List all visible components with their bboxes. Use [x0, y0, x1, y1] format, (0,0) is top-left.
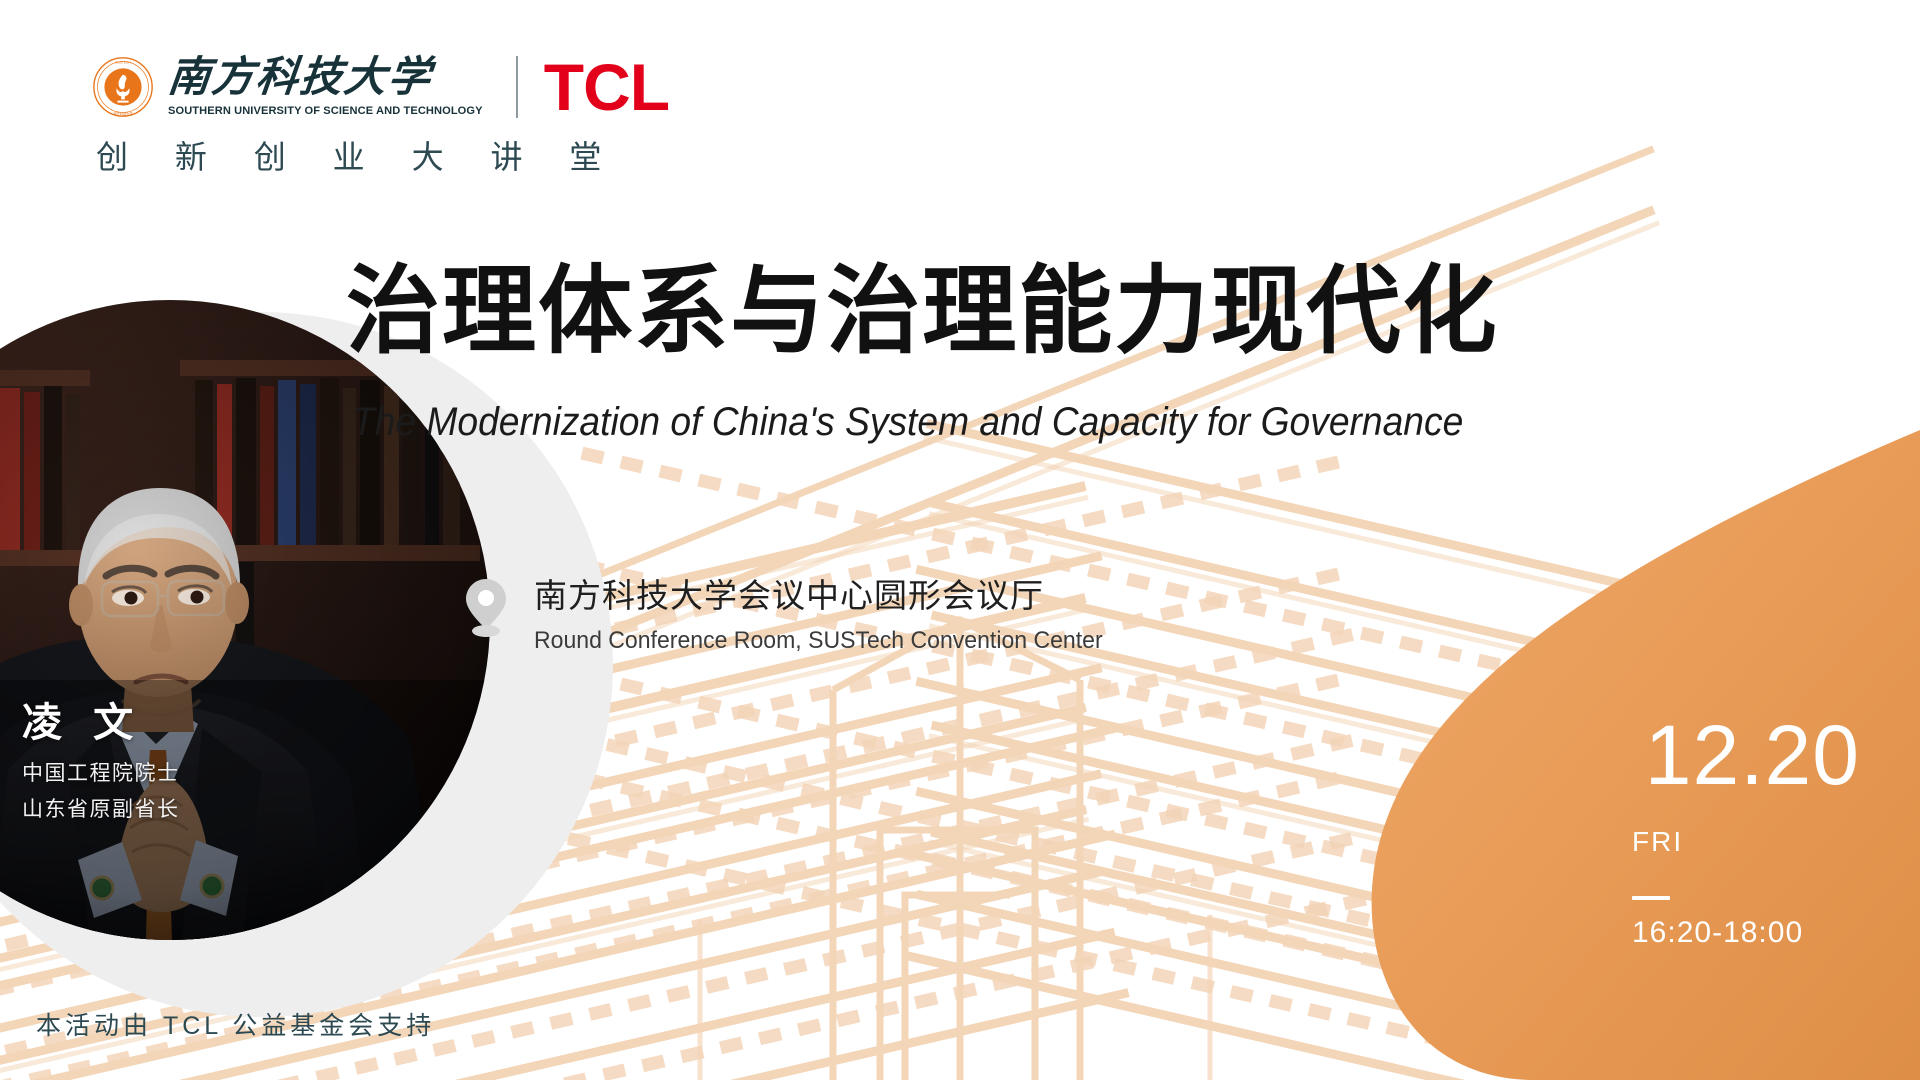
sustech-seal-icon: SUSTECH 南方科技大学 [92, 56, 154, 118]
event-date: 12.20 [1606, 716, 1866, 796]
venue-text: 南方科技大学会议中心圆形会议厅 Round Conference Room, S… [534, 575, 1126, 655]
program-name: 创 新 创 业 大 讲 堂 [96, 132, 620, 178]
sponsor-note: 本活动由 TCL 公益基金会支持 [36, 1006, 435, 1042]
speaker-name: 凌 文 [22, 700, 180, 746]
logo-divider [516, 56, 518, 118]
sustech-name-cn: 南方科技大学 [166, 57, 488, 99]
venue-name-en: Round Conference Room, SUSTech Conventio… [534, 627, 1103, 655]
tcl-logo: TCL [544, 61, 669, 114]
svg-text:SUSTECH: SUSTECH [115, 60, 131, 64]
location-pin-icon [466, 579, 506, 637]
venue-block: 南方科技大学会议中心圆形会议厅 Round Conference Room, S… [466, 575, 1126, 655]
event-time: 16:20-18:00 [1606, 916, 1866, 950]
svg-text:南方科技大学: 南方科技大学 [113, 111, 133, 116]
date-divider-rule [1632, 896, 1670, 900]
logo-lockup: SUSTECH 南方科技大学 南方科技大学 SOUTHERN UNIVERSIT… [92, 56, 669, 118]
venue-name-cn: 南方科技大学会议中心圆形会议厅 [534, 575, 1126, 618]
page-subtitle: The Modernization of China's System and … [352, 400, 1463, 445]
sustech-name-en: SOUTHERN UNIVERSITY OF SCIENCE AND TECHN… [168, 105, 483, 117]
speaker-title-line-2: 山东省原副省长 [22, 792, 180, 828]
speaker-title-line-1: 中国工程院院士 [22, 756, 180, 792]
speaker-info: 凌 文 中国工程院院士 山东省原副省长 [22, 700, 180, 828]
event-day-of-week: FRI [1606, 826, 1866, 858]
event-poster: 凌 文 中国工程院院士 山东省原副省长 SUSTECH 南方科技大学 南方科技大… [0, 0, 1920, 1080]
date-badge: 12.20 FRI 16:20-18:00 [1606, 716, 1866, 950]
sustech-wordmark: 南方科技大学 SOUTHERN UNIVERSITY OF SCIENCE AN… [168, 57, 486, 117]
page-title: 治理体系与治理能力现代化 [346, 258, 1498, 366]
